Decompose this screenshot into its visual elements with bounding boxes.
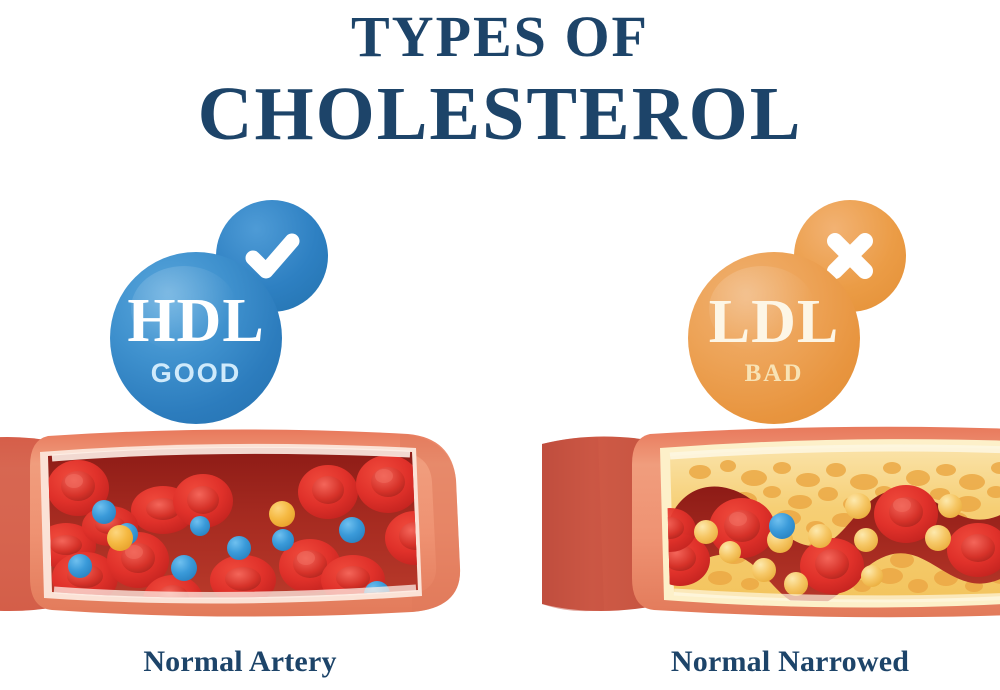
narrowed-artery-caption: Normal Narrowed [600,645,980,679]
page-title: TYPES OF CHOLESTEROL [0,8,1000,152]
narrowed-artery-illustration [520,418,1000,626]
title-line-2: CHOLESTEROL [0,76,1000,152]
hdl-circle: HDL GOOD [110,252,282,424]
ldl-badge[interactable]: LDL BAD [688,200,908,425]
narrowed-hdl-particles [769,513,795,539]
infographic-canvas: TYPES OF CHOLESTEROL HDL GOOD LDL BAD [0,0,1000,690]
normal-artery-illustration [0,418,470,626]
ldl-code-label: LDL [709,291,839,353]
title-line-1: TYPES OF [0,8,1000,66]
hdl-code-label: HDL [127,290,264,352]
hdl-sub-label: GOOD [151,360,242,387]
ldl-sub-label: BAD [745,361,804,386]
hdl-badge[interactable]: HDL GOOD [110,200,330,425]
ldl-circle: LDL BAD [688,252,860,424]
normal-artery-caption: Normal Artery [60,645,420,679]
